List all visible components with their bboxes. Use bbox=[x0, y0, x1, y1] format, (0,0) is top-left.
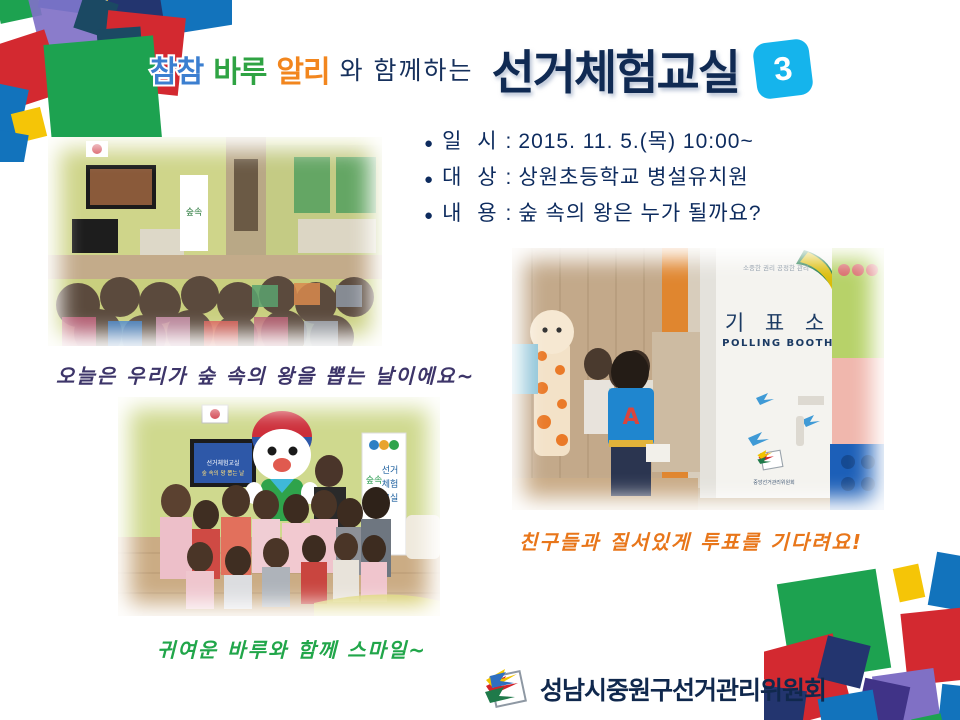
election-commission-ballot-box-logo bbox=[484, 668, 530, 710]
bullet-icon: ● bbox=[424, 135, 434, 152]
page-title: 선거체험교실 bbox=[492, 34, 739, 103]
info-label-content: 내 용 bbox=[442, 197, 501, 227]
mascot-name-chamcham: 참참 bbox=[150, 47, 203, 91]
caption-classroom: 오늘은 우리가 숲 속의 왕을 뽑는 날이에요~ bbox=[56, 360, 475, 389]
slide-header: 참참 바루 알리 와 함께하는 선거체험교실 3 bbox=[150, 34, 811, 103]
caption-polling-booth: 친구들과 질서있게 투표를 기다려요! bbox=[519, 526, 863, 555]
info-value-content: 숲 속의 왕은 누가 될까요? bbox=[518, 197, 761, 227]
info-item-datetime: ● 일 시 : 2015. 11. 5.(목) 10:00~ bbox=[424, 125, 762, 155]
footer: 성남시중원구선거관리위원회 bbox=[484, 668, 826, 710]
photo-vignette bbox=[118, 397, 440, 616]
bullet-icon: ● bbox=[424, 171, 434, 188]
footer-organization-name: 성남시중원구선거관리위원회 bbox=[540, 671, 826, 707]
event-info-list: ● 일 시 : 2015. 11. 5.(목) 10:00~ ● 대 상 : 상… bbox=[424, 125, 762, 233]
mascot-name-alli: 알리 bbox=[276, 47, 329, 91]
polling-booth-photo: A 소중한 권리 공정한 관리 기 표 소 POLLING BOOTH bbox=[512, 248, 884, 510]
photo-vignette bbox=[48, 137, 382, 346]
info-item-content: ● 내 용 : 숲 속의 왕은 누가 될까요? bbox=[424, 197, 762, 227]
slide-number-badge: 3 bbox=[752, 37, 814, 99]
info-colon: : bbox=[506, 130, 513, 154]
bullet-icon: ● bbox=[424, 207, 434, 224]
mascot-name-baru: 바루 bbox=[213, 47, 266, 91]
group-mascot-photo: 선거체험교실 숲 속의 왕 뽑는 날 선거 체험 교실 숲속 의왕 bbox=[118, 397, 440, 616]
info-value-audience: 상원초등학교 병설유치원 bbox=[518, 161, 748, 191]
info-colon: : bbox=[506, 166, 513, 190]
info-label-datetime: 일 시 bbox=[442, 125, 501, 155]
photo-vignette bbox=[512, 248, 884, 510]
title-connector-text: 와 함께하는 bbox=[340, 51, 474, 87]
presentation-slide: 참참 바루 알리 와 함께하는 선거체험교실 3 ● 일 시 : 2015. 1… bbox=[0, 0, 960, 720]
info-label-audience: 대 상 bbox=[442, 161, 501, 191]
info-value-datetime: 2015. 11. 5.(목) 10:00~ bbox=[518, 125, 753, 155]
info-item-audience: ● 대 상 : 상원초등학교 병설유치원 bbox=[424, 161, 762, 191]
info-colon: : bbox=[506, 202, 513, 226]
classroom-presentation-photo: 숲속 bbox=[48, 137, 382, 346]
caption-group-mascot: 귀여운 바루와 함께 스마일~ bbox=[157, 634, 427, 663]
